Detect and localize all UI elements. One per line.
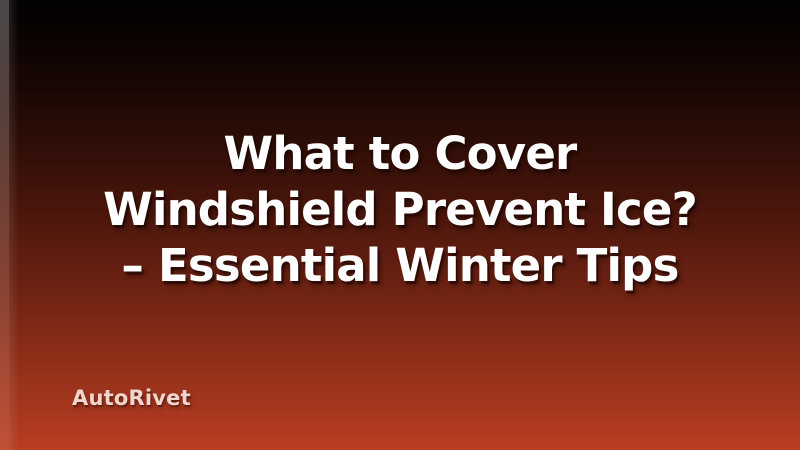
title-line-3: – Essential Winter Tips bbox=[24, 238, 776, 294]
thumbnail-card: What to Cover Windshield Prevent Ice? – … bbox=[0, 0, 800, 450]
title-line-2: Windshield Prevent Ice? bbox=[24, 182, 776, 238]
brand-wordmark: AutoRivet bbox=[72, 386, 191, 410]
page-title: What to Cover Windshield Prevent Ice? – … bbox=[0, 126, 800, 294]
title-line-1: What to Cover bbox=[24, 126, 776, 182]
